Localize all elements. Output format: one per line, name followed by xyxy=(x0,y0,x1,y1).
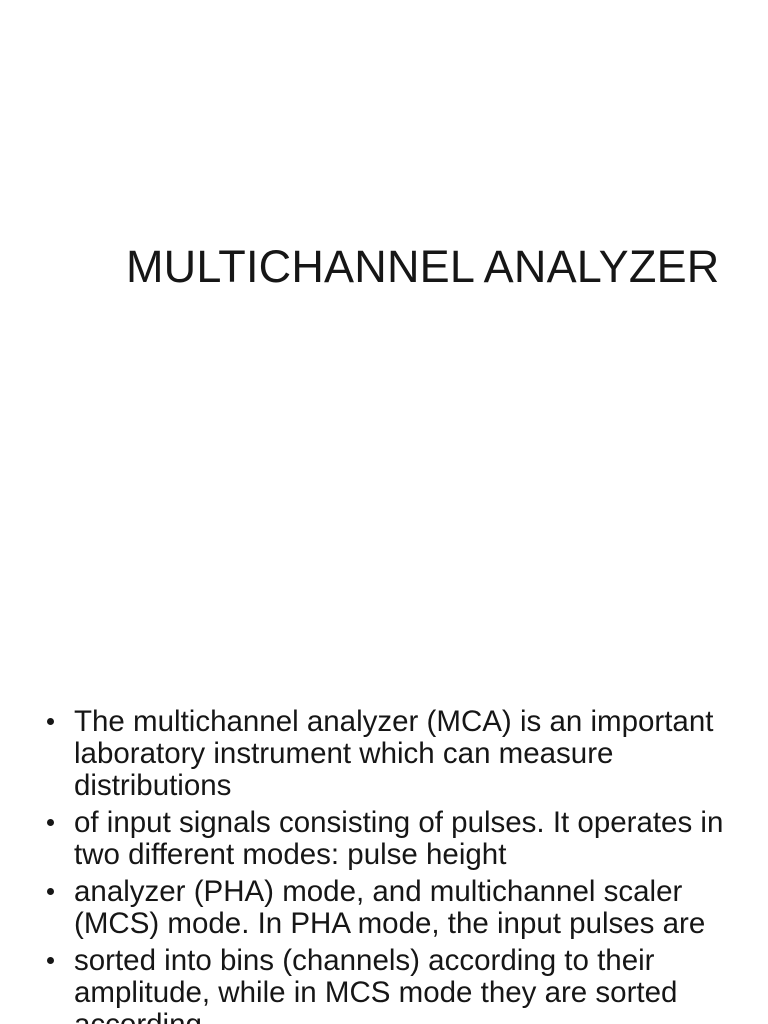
bullet-list: The multichannel analyzer (MCA) is an im… xyxy=(40,706,740,1024)
page-title: MULTICHANNEL ANALYZER xyxy=(126,240,646,294)
slide-page: MULTICHANNEL ANALYZER The multichannel a… xyxy=(0,0,768,1024)
list-item-text: sorted into bins (channels) according to… xyxy=(74,945,740,1024)
list-item: sorted into bins (channels) according to… xyxy=(40,945,740,1024)
list-item-text: of input signals consisting of pulses. I… xyxy=(74,807,740,871)
list-item-text: analyzer (PHA) mode, and multichannel sc… xyxy=(74,876,740,940)
list-item-text: The multichannel analyzer (MCA) is an im… xyxy=(74,706,740,802)
bullet-dot-icon xyxy=(47,819,54,826)
list-item: of input signals consisting of pulses. I… xyxy=(40,807,740,871)
bullet-dot-icon xyxy=(47,718,54,725)
list-item: The multichannel analyzer (MCA) is an im… xyxy=(40,706,740,802)
bullet-dot-icon xyxy=(47,957,54,964)
bullet-dot-icon xyxy=(47,888,54,895)
list-item: analyzer (PHA) mode, and multichannel sc… xyxy=(40,876,740,940)
